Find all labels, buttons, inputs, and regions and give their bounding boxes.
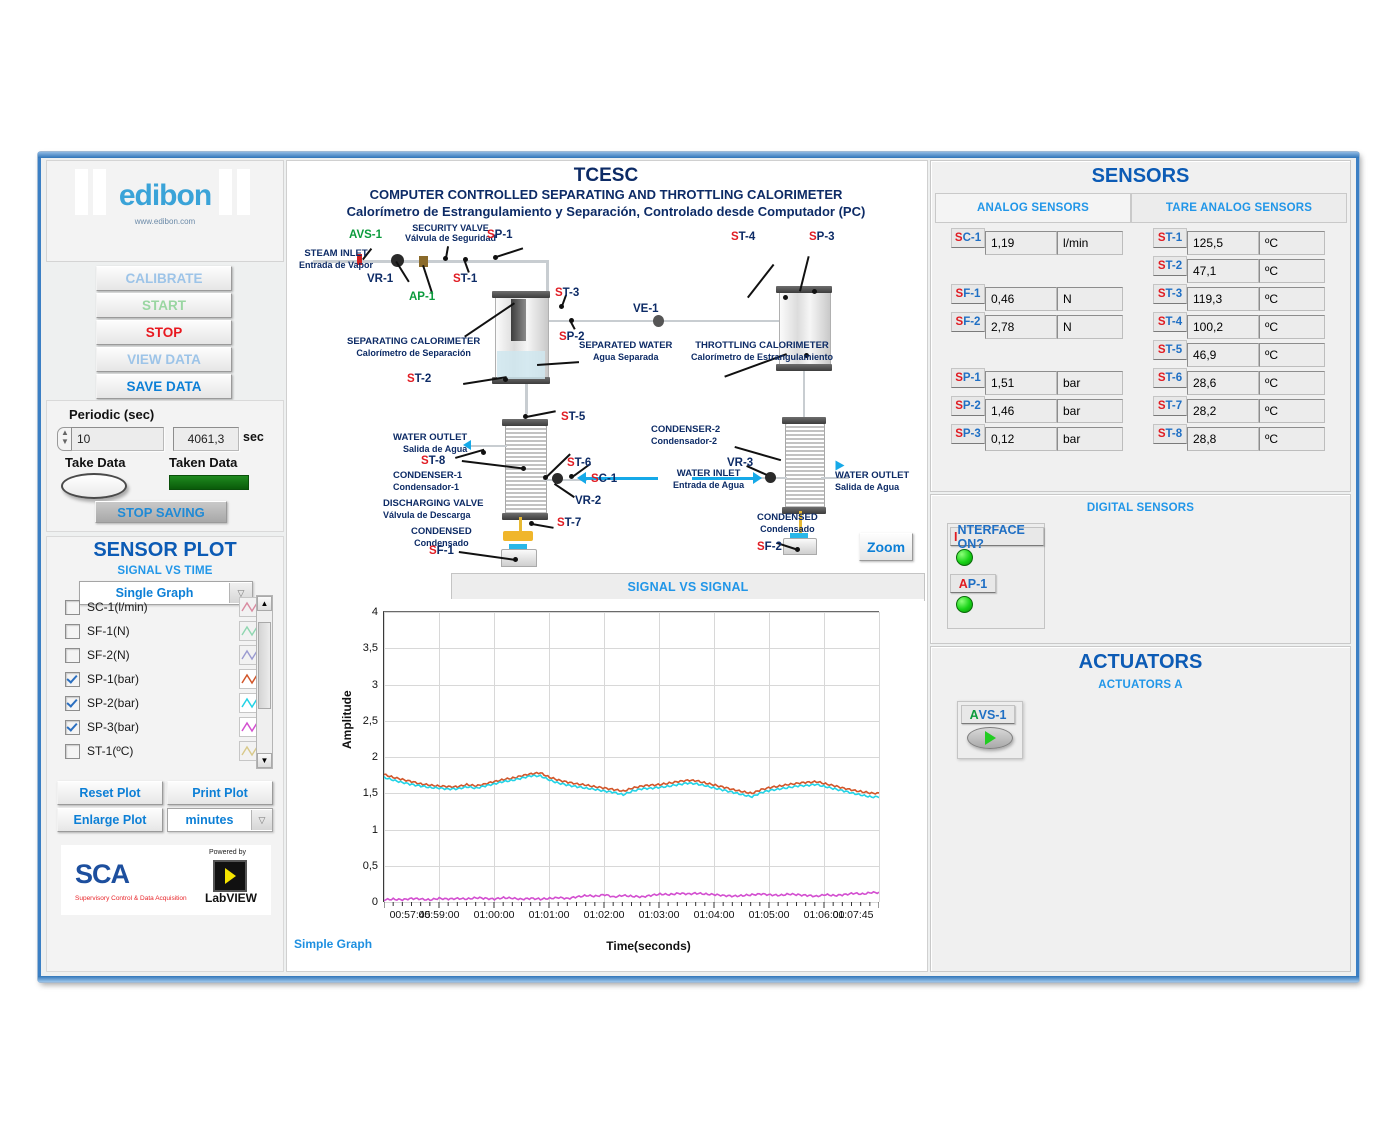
sensor-tag: SP-1 <box>951 368 985 388</box>
diagram-subtitle-en: COMPUTER CONTROLLED SEPARATING AND THROT… <box>287 187 925 202</box>
sensor-checkbox[interactable] <box>65 600 80 615</box>
sensor-value: 28,8 <box>1187 427 1259 451</box>
taken-data-indicator <box>169 475 249 490</box>
tag-st-7: ST-7 <box>557 517 581 530</box>
discharging-valve-body <box>503 531 533 541</box>
list-item[interactable]: SC-1(l/min) <box>65 595 265 619</box>
digital-sensors-panel: DIGITAL SENSORS INTERFACE ON? AP-1 <box>930 494 1351 644</box>
chart-y-tick: 3 <box>372 679 378 691</box>
edibon-text: edibon <box>119 179 211 212</box>
water-inlet-arrowhead-right <box>753 472 762 484</box>
sensor-plot-title: SENSOR PLOT <box>47 539 283 562</box>
sensor-chart: Amplitude 00,511,522,533,5400:57:4500:59… <box>288 599 924 969</box>
sensor-list-scrollbar[interactable]: ▲ ▼ <box>256 595 273 769</box>
sensors-title: SENSORS <box>931 165 1350 188</box>
tag-avs-1: AVS-1 <box>349 229 382 242</box>
labview-label: LabVIEW <box>205 891 257 905</box>
sensor-value: 28,2 <box>1187 399 1259 423</box>
digital-sensors-group: INTERFACE ON? AP-1 <box>947 523 1045 629</box>
sensor-value: 100,2 <box>1187 315 1259 339</box>
stop-button[interactable]: STOP <box>96 320 232 345</box>
time-units-select[interactable]: minutes ▽ <box>167 808 273 832</box>
take-data-toggle[interactable] <box>61 473 127 499</box>
condenser-1-unit <box>505 425 547 519</box>
list-item[interactable]: SF-1(N) <box>65 619 265 643</box>
tare-sensor-grid: ST-1 125,5 ºC ST-2 47,1 ºC ST-3 119,3 ºC… <box>1153 227 1325 451</box>
sensor-unit: ºC <box>1259 371 1325 395</box>
water-outlet-2-label: WATER OUTLETSalida de Agua <box>835 471 909 493</box>
sensor-unit: ºC <box>1259 315 1325 339</box>
avs-1-label: AVS-1 <box>961 705 1015 724</box>
sensor-unit: ºC <box>1259 259 1325 283</box>
sensor-value: 0,46 <box>985 287 1057 311</box>
condenser1-top-cap <box>502 419 548 426</box>
sensor-checkbox[interactable] <box>65 648 80 663</box>
chart-x-tick: 01:07:45 <box>833 909 874 921</box>
chart-x-tick: 01:04:00 <box>694 909 735 921</box>
sensor-value: 1,51 <box>985 371 1057 395</box>
separating-calorimeter-label: SEPARATING CALORIMETERCalorímetro de Sep… <box>347 337 480 359</box>
save-data-button[interactable]: SAVE DATA <box>96 374 232 399</box>
center-diagram-and-chart: TCESC COMPUTER CONTROLLED SEPARATING AND… <box>286 160 928 972</box>
process-diagram: TCESC COMPUTER CONTROLLED SEPARATING AND… <box>287 161 925 569</box>
list-item[interactable]: SP-3(bar) <box>65 715 265 739</box>
edibon-url: www.edibon.com <box>47 217 283 226</box>
sensor-label: SF-1(N) <box>87 624 239 638</box>
chart-y-axis-label: Amplitude <box>340 690 354 749</box>
tag-ap-1: AP-1 <box>409 291 435 304</box>
sensor-unit: bar <box>1057 427 1123 451</box>
water-inlet-label: WATER INLETEntrada de Agua <box>673 469 744 491</box>
sensor-tag: SP-3 <box>951 424 985 444</box>
sensor-checkbox[interactable] <box>65 720 80 735</box>
sensors-panel: SENSORS ANALOG SENSORS TARE ANALOG SENSO… <box>930 160 1351 492</box>
chart-gridline-v <box>879 612 880 902</box>
sensor-value: 2,78 <box>985 315 1057 339</box>
sensor-plot-panel: SENSOR PLOT SIGNAL VS TIME Single Graph … <box>46 536 284 972</box>
sensor-tag: ST-7 <box>1153 396 1187 416</box>
view-data-button[interactable]: VIEW DATA <box>96 347 232 372</box>
chart-x-tick: 01:01:00 <box>529 909 570 921</box>
list-item[interactable]: SF-2(N) <box>65 643 265 667</box>
elapsed-time-value: 4061,3 <box>173 427 239 451</box>
sensor-label: SP-1(bar) <box>87 672 239 686</box>
list-item[interactable]: SP-2(bar) <box>65 691 265 715</box>
tag-sc-1: SC-1 <box>591 473 617 486</box>
sensor-label: SF-2(N) <box>87 648 239 662</box>
chart-y-tick: 2,5 <box>363 715 378 727</box>
signal-tab-bar: SIGNAL VS SIGNAL <box>288 573 924 599</box>
water-inlet-arrowhead-left <box>577 472 586 484</box>
digital-sensors-title: DIGITAL SENSORS <box>931 502 1350 514</box>
enlarge-plot-button[interactable]: Enlarge Plot <box>57 808 163 832</box>
sensor-checkbox[interactable] <box>65 624 80 639</box>
sensor-label: SC-1(l/min) <box>87 600 239 614</box>
actuators-title: ACTUATORS <box>931 651 1350 674</box>
condenser-1-label: CONDENSER-1Condensador-1 <box>393 471 462 493</box>
st-4-point <box>783 295 788 300</box>
condenser-2-label: CONDENSER-2Condensador-2 <box>651 425 720 447</box>
sensor-unit: N <box>1057 287 1123 311</box>
leader-sp1 <box>496 247 523 257</box>
analog-sensor-grid: SC-1 1,19 l/min SF-1 0,46 N SF-2 2,78 N … <box>951 227 1123 451</box>
condenser1-outlet-pipe <box>469 445 507 447</box>
elapsed-time-unit: sec <box>243 430 264 444</box>
sensor-tag: ST-1 <box>1153 228 1187 248</box>
sensor-label: SP-3(bar) <box>87 720 239 734</box>
right-panel-column: SENSORS ANALOG SENSORS TARE ANALOG SENSO… <box>930 160 1351 970</box>
sensor-value: 119,3 <box>1187 287 1259 311</box>
edibon-wordmark: edibon <box>47 179 283 213</box>
tag-st-5: ST-5 <box>561 411 585 424</box>
tag-vr-3: VR-3 <box>727 457 753 470</box>
sensor-value: 1,46 <box>985 399 1057 423</box>
chart-y-tick: 0,5 <box>363 860 378 872</box>
sensor-checkbox[interactable] <box>65 672 80 687</box>
condensed-2-label: CONDENSEDCondensado <box>757 513 818 535</box>
tag-st-4: ST-4 <box>731 231 755 244</box>
data-acquisition-panel: Periodic (sec) ▲▼ 10 4061,3 sec Take Dat… <box>46 400 284 532</box>
chevron-down-icon[interactable]: ▽ <box>251 810 272 830</box>
actuators-panel: ACTUATORS ACTUATORS A AVS-1 <box>930 646 1351 972</box>
print-plot-button[interactable]: Print Plot <box>167 781 273 805</box>
sensor-label: SP-2(bar) <box>87 696 239 710</box>
condenser1-bottom-cap <box>502 513 548 520</box>
chart-y-tick: 1 <box>372 824 378 836</box>
start-button[interactable]: START <box>96 293 232 318</box>
avs-1-actuator-group: AVS-1 <box>957 701 1023 759</box>
diagram-subtitle-es: Calorímetro de Estrangulamiento y Separa… <box>287 204 925 219</box>
avs-1-toggle[interactable] <box>967 727 1013 749</box>
tab-tare-analog-sensors[interactable]: TARE ANALOG SENSORS <box>1131 193 1347 223</box>
water-outlet-2-arrow <box>836 461 845 471</box>
sensor-unit: ºC <box>1259 399 1325 423</box>
signal-vs-signal-label: SIGNAL VS SIGNAL <box>627 580 748 594</box>
throttling-calorimeter-label: THROTTLING CALORIMETERCalorímetro de Est… <box>691 341 833 363</box>
powered-by-label: Powered by <box>209 849 246 856</box>
edibon-logo-panel: edibon www.edibon.com <box>46 160 284 262</box>
sensor-unit: ºC <box>1259 231 1325 255</box>
chart-x-tick: 01:05:00 <box>749 909 790 921</box>
stop-saving-button[interactable]: STOP SAVING <box>95 501 227 523</box>
discharging-valve-label: DISCHARGING VALVEVálvula de Descarga <box>383 499 483 521</box>
tag-vr-1: VR-1 <box>367 273 393 286</box>
tag-sf-1: SF-1 <box>429 545 454 558</box>
sensor-tag: ST-3 <box>1153 284 1187 304</box>
periodic-input[interactable]: 10 <box>71 427 164 451</box>
tag-sp-3: SP-3 <box>809 231 835 244</box>
sensor-value: 46,9 <box>1187 343 1259 367</box>
reset-plot-button[interactable]: Reset Plot <box>57 781 163 805</box>
sensor-unit: ºC <box>1259 287 1325 311</box>
sensor-unit: l/min <box>1057 231 1123 255</box>
chart-series-SP-3(bar) <box>384 892 879 901</box>
tag-st-3: ST-3 <box>555 287 579 300</box>
chart-x-tick: 01:02:00 <box>584 909 625 921</box>
chart-y-tick: 0 <box>372 896 378 908</box>
chart-x-tick: 01:00:00 <box>474 909 515 921</box>
sensor-unit: bar <box>1057 371 1123 395</box>
ap-1-label: AP-1 <box>950 574 996 593</box>
steam-inlet-label: STEAM INLETEntrada de Vapor <box>299 249 373 271</box>
sensor-tag: ST-6 <box>1153 368 1187 388</box>
sensor-tag: ST-5 <box>1153 340 1187 360</box>
sensor-value: 0,12 <box>985 427 1057 451</box>
chart-series-layer <box>384 612 879 902</box>
taken-data-label: Taken Data <box>169 455 237 470</box>
sensor-checkbox[interactable] <box>65 696 80 711</box>
list-item[interactable]: ST-1(ºC) <box>65 739 265 763</box>
tab-signal-vs-signal[interactable]: SIGNAL VS SIGNAL <box>451 573 925 601</box>
chart-y-tick: 1,5 <box>363 787 378 799</box>
chart-x-tick: 00:59:00 <box>419 909 460 921</box>
zoom-button[interactable]: Zoom <box>859 533 913 561</box>
vessel-top-cap <box>492 291 550 298</box>
sensor-value: 28,6 <box>1187 371 1259 395</box>
leader-ap1 <box>422 265 433 294</box>
chart-y-tick: 3,5 <box>363 642 378 654</box>
sensor-unit: ºC <box>1259 427 1325 451</box>
sensor-tag: ST-8 <box>1153 424 1187 444</box>
take-data-label: Take Data <box>65 455 125 470</box>
ve-1-valve <box>653 315 664 327</box>
interface-on-led <box>956 549 973 566</box>
leader-st7 <box>532 523 554 528</box>
main-action-buttons: CALIBRATE START STOP VIEW DATA SAVE DATA <box>96 266 232 401</box>
sensor-checkbox[interactable] <box>65 744 80 759</box>
scroll-up-icon[interactable]: ▲ <box>257 596 272 611</box>
vr-2-valve <box>552 473 563 484</box>
condenser2-top-cap <box>782 417 826 424</box>
tag-sf-2: SF-2 <box>757 541 782 554</box>
leader-securityvalve <box>445 246 449 258</box>
separated-water-label: SEPARATED WATERAgua Separada <box>579 341 672 363</box>
sensor-tag: ST-4 <box>1153 312 1187 332</box>
tag-st-2: ST-2 <box>407 373 431 386</box>
sensor-tag: SP-2 <box>951 396 985 416</box>
simple-graph-label: Simple Graph <box>294 937 372 951</box>
sensor-unit: ºC <box>1259 343 1325 367</box>
sensor-label: ST-1(ºC) <box>87 744 239 758</box>
scroll-down-icon[interactable]: ▼ <box>257 753 272 768</box>
sensor-value: 125,5 <box>1187 231 1259 255</box>
crossover-pipe <box>545 320 807 322</box>
sensor-tag: SC-1 <box>951 228 985 248</box>
tab-tare-label: TARE ANALOG SENSORS <box>1166 202 1312 214</box>
sensor-value: 47,1 <box>1187 259 1259 283</box>
chart-plot-area[interactable]: 00,511,522,533,5400:57:4500:59:0001:00:0… <box>383 611 879 902</box>
scrollbar-thumb[interactable] <box>258 622 271 709</box>
signal-vs-time-tab[interactable]: SIGNAL VS TIME <box>47 565 283 577</box>
leader-vr2 <box>554 483 575 498</box>
leader-st4 <box>747 264 774 298</box>
chart-y-tick: 2 <box>372 751 378 763</box>
security-valve-label: SECURITY VALVEVálvula de Seguridad <box>405 223 496 243</box>
tag-sp-1: SP-1 <box>487 229 513 242</box>
time-units-value: minutes <box>168 813 251 827</box>
tab-analog-sensors[interactable]: ANALOG SENSORS <box>935 193 1131 223</box>
internal-baffle <box>511 299 526 341</box>
sensor-tag: ST-2 <box>1153 256 1187 276</box>
sp-3-point <box>812 289 817 294</box>
tag-vr-2: VR-2 <box>575 495 601 508</box>
list-item[interactable]: SP-1(bar) <box>65 667 265 691</box>
chart-x-tick: 01:03:00 <box>639 909 680 921</box>
chart-x-axis-label: Time(seconds) <box>383 939 914 953</box>
scada-application-window: edibon www.edibon.com CALIBRATE START ST… <box>38 152 1359 982</box>
condenser-2-unit <box>785 423 825 513</box>
play-triangle-icon <box>985 731 996 745</box>
sensor-unit: bar <box>1057 399 1123 423</box>
throttle-top-cap <box>776 286 832 293</box>
throttle-bottom-cap <box>776 364 832 371</box>
labview-icon <box>213 860 247 892</box>
ap-1-led <box>956 596 973 613</box>
calibrate-button[interactable]: CALIBRATE <box>96 266 232 291</box>
tag-st-6: ST-6 <box>567 457 591 470</box>
tag-ve-1: VE-1 <box>633 303 659 316</box>
sensor-tag: SF-1 <box>951 284 985 304</box>
leader-st5 <box>526 410 556 417</box>
scada-tagline: Supervisory Control & Data Acquisition <box>75 895 187 902</box>
actuators-subtitle: ACTUATORS A <box>931 679 1350 691</box>
sensor-unit: N <box>1057 315 1123 339</box>
chart-y-tick: 4 <box>372 606 378 618</box>
diagram-title: TCESC <box>287 165 925 187</box>
water-outlet-1-label: WATER OUTLETSalida de Agua <box>393 433 467 455</box>
scada-labview-logo-panel: SCADA Supervisory Control & Data Acquisi… <box>61 845 271 915</box>
tab-analog-label: ANALOG SENSORS <box>977 202 1089 214</box>
periodic-label: Periodic (sec) <box>69 407 154 422</box>
interface-on-label: INTERFACE ON? <box>950 527 1044 546</box>
tag-st-8: ST-8 <box>421 455 445 468</box>
left-control-column: edibon www.edibon.com CALIBRATE START ST… <box>46 160 282 970</box>
sensor-value: 1,19 <box>985 231 1057 255</box>
sensor-tag: SF-2 <box>951 312 985 332</box>
tag-st-1: ST-1 <box>453 273 477 286</box>
sensor-selection-list: SC-1(l/min) SF-1(N) SF-2(N) SP-1(bar) SP… <box>65 595 265 767</box>
